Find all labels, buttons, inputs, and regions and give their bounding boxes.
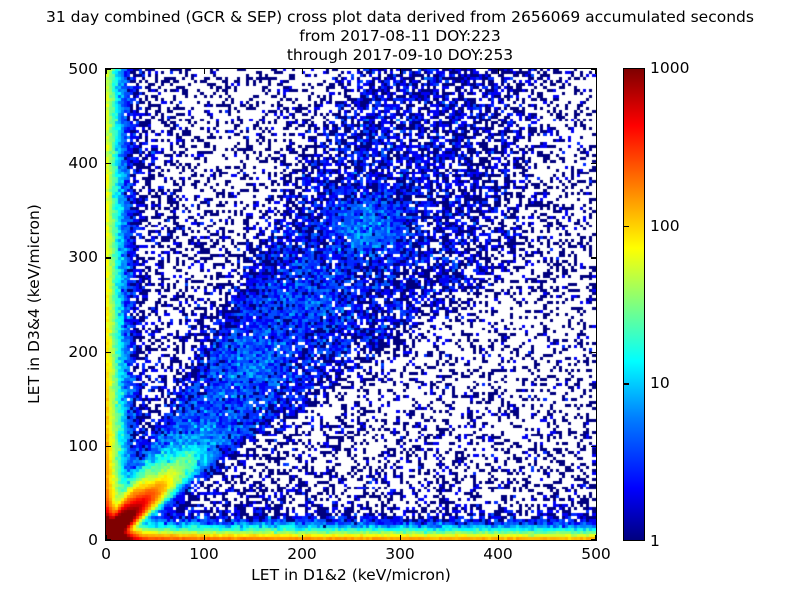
colorbar-tick-label-1: 1 — [650, 532, 660, 550]
y-tick-label-500: 500 — [68, 60, 98, 78]
colorbar-tick-10 — [623, 383, 629, 384]
y-tick-0 — [106, 539, 111, 540]
x-tick-top-200 — [302, 69, 303, 74]
x-tick-label-500: 500 — [581, 545, 611, 563]
colorbar-tick-label-1000: 1000 — [650, 59, 689, 77]
figure-canvas: 31 day combined (GCR & SEP) cross plot d… — [0, 0, 800, 600]
y-tick-300 — [106, 257, 111, 258]
y-tick-right-500 — [591, 69, 596, 70]
y-tick-100 — [106, 446, 111, 447]
colorbar-tick-label-100: 100 — [650, 217, 680, 235]
x-tick-label-300: 300 — [385, 545, 415, 563]
plot-axes — [105, 68, 597, 541]
y-tick-label-100: 100 — [68, 437, 98, 455]
x-tick-label-100: 100 — [189, 545, 219, 563]
colorbar-tick-100 — [623, 226, 629, 227]
y-tick-label-0: 0 — [88, 531, 98, 549]
y-axis-label: LET in D3&4 (keV/micron) — [25, 154, 43, 454]
x-axis-label: LET in D1&2 (keV/micron) — [105, 566, 597, 584]
scatter-plot-data — [106, 69, 596, 540]
y-tick-right-400 — [591, 163, 596, 164]
x-tick-label-200: 200 — [287, 545, 317, 563]
y-tick-label-300: 300 — [68, 248, 98, 266]
x-tick-label-0: 0 — [101, 545, 111, 563]
x-tick-400 — [498, 535, 499, 540]
chart-title: 31 day combined (GCR & SEP) cross plot d… — [0, 8, 800, 65]
x-tick-top-300 — [400, 69, 401, 74]
colorbar-gradient — [623, 68, 645, 541]
y-tick-right-100 — [591, 446, 596, 447]
y-tick-right-200 — [591, 352, 596, 353]
y-tick-right-300 — [591, 257, 596, 258]
title-line-2: from 2017-08-11 DOY:223 — [0, 27, 800, 46]
x-tick-label-400: 400 — [483, 545, 513, 563]
x-tick-100 — [204, 535, 205, 540]
title-line-1: 31 day combined (GCR & SEP) cross plot d… — [0, 8, 800, 27]
y-tick-400 — [106, 163, 111, 164]
y-tick-label-400: 400 — [68, 154, 98, 172]
x-tick-300 — [400, 535, 401, 540]
x-tick-top-100 — [204, 69, 205, 74]
colorbar-tick-label-10: 10 — [650, 374, 670, 392]
y-tick-200 — [106, 352, 111, 353]
y-tick-right-0 — [591, 539, 596, 540]
y-tick-label-200: 200 — [68, 343, 98, 361]
x-tick-200 — [302, 535, 303, 540]
x-tick-top-400 — [498, 69, 499, 74]
y-tick-500 — [106, 69, 111, 70]
